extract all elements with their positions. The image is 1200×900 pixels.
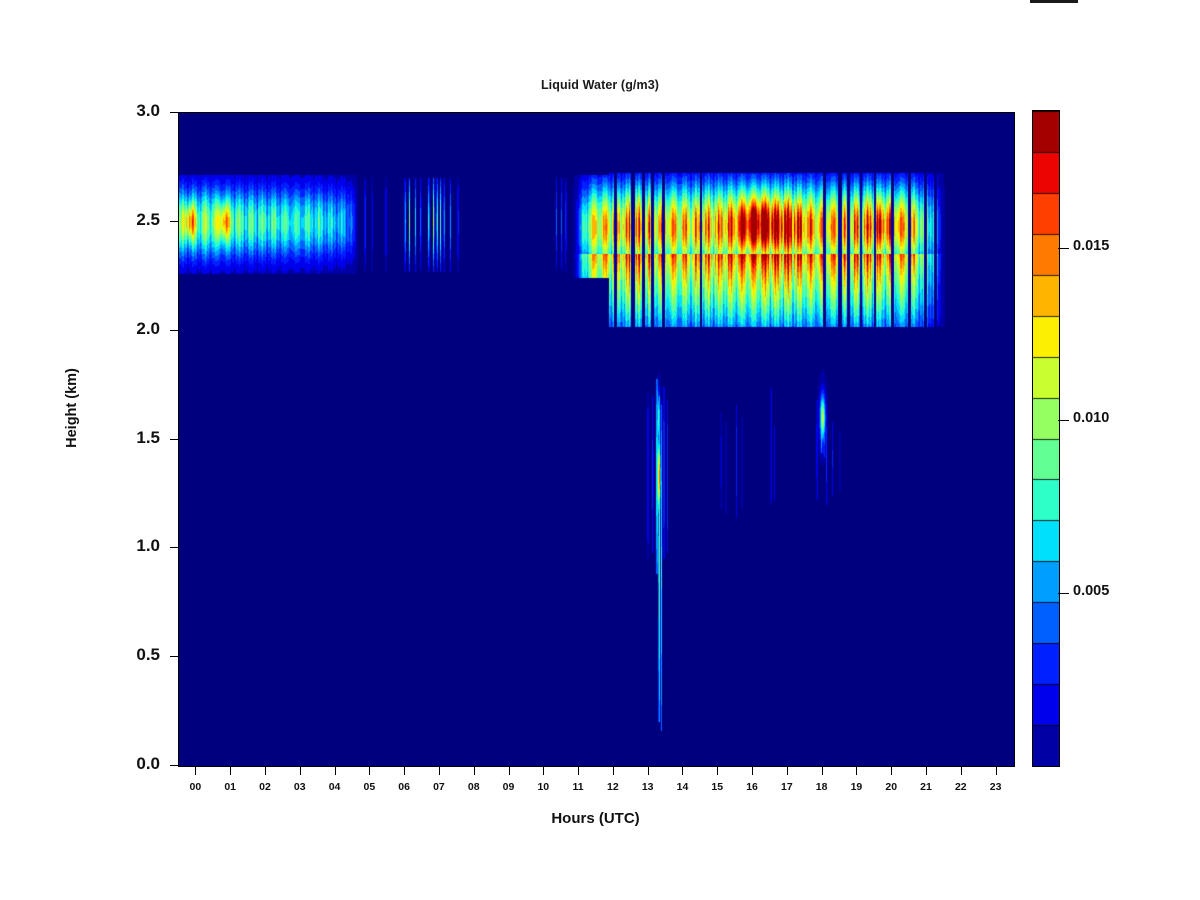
x-tick-mark <box>996 766 997 775</box>
top-right-artifact-bar <box>1030 0 1078 3</box>
x-tick-label: 23 <box>983 781 1009 793</box>
x-tick-label: 05 <box>356 781 382 793</box>
x-tick-label: 17 <box>774 781 800 793</box>
x-tick-label: 02 <box>252 781 278 793</box>
x-tick-label: 16 <box>739 781 765 793</box>
x-tick-label: 09 <box>496 781 522 793</box>
x-tick-mark <box>509 766 510 775</box>
y-tick-label: 1.5 <box>100 428 160 448</box>
x-tick-mark <box>787 766 788 775</box>
x-tick-label: 18 <box>809 781 835 793</box>
y-tick-mark <box>170 330 178 331</box>
y-tick-mark <box>170 439 178 440</box>
x-tick-mark <box>682 766 683 775</box>
x-tick-mark <box>822 766 823 775</box>
x-tick-label: 00 <box>182 781 208 793</box>
y-tick-label: 2.0 <box>100 319 160 339</box>
x-tick-label: 07 <box>426 781 452 793</box>
x-tick-label: 15 <box>704 781 730 793</box>
x-tick-label: 21 <box>913 781 939 793</box>
y-tick-label: 0.5 <box>100 645 160 665</box>
x-tick-mark <box>439 766 440 775</box>
y-tick-mark <box>170 221 178 222</box>
x-axis-title: Hours (UTC) <box>178 810 1013 827</box>
x-tick-label: 11 <box>565 781 591 793</box>
x-tick-mark <box>961 766 962 775</box>
x-tick-mark <box>300 766 301 775</box>
x-tick-label: 10 <box>530 781 556 793</box>
x-tick-mark <box>474 766 475 775</box>
x-tick-label: 20 <box>878 781 904 793</box>
x-tick-label: 19 <box>843 781 869 793</box>
y-tick-mark <box>170 765 178 766</box>
x-tick-mark <box>369 766 370 775</box>
x-tick-label: 14 <box>669 781 695 793</box>
y-tick-label: 3.0 <box>100 101 160 121</box>
x-tick-label: 12 <box>600 781 626 793</box>
x-tick-mark <box>891 766 892 775</box>
x-tick-label: 06 <box>391 781 417 793</box>
x-tick-mark <box>335 766 336 775</box>
figure-root: Liquid Water (g/m3) 0.00.51.01.52.02.53.… <box>0 0 1200 900</box>
colorbar-tick-mark <box>1058 420 1069 421</box>
x-tick-mark <box>195 766 196 775</box>
x-tick-label: 08 <box>461 781 487 793</box>
x-tick-mark <box>926 766 927 775</box>
x-tick-label: 13 <box>635 781 661 793</box>
x-tick-label: 03 <box>287 781 313 793</box>
x-tick-label: 01 <box>217 781 243 793</box>
x-tick-mark <box>265 766 266 775</box>
colorbar-tick-mark <box>1058 593 1069 594</box>
y-tick-mark <box>170 547 178 548</box>
x-tick-mark <box>230 766 231 775</box>
y-tick-mark <box>170 656 178 657</box>
x-tick-label: 22 <box>948 781 974 793</box>
y-tick-mark <box>170 112 178 113</box>
x-tick-mark <box>856 766 857 775</box>
x-tick-mark <box>404 766 405 775</box>
y-tick-label: 2.5 <box>100 210 160 230</box>
colorbar-tick-mark <box>1058 248 1069 249</box>
x-tick-mark <box>578 766 579 775</box>
y-tick-label: 1.0 <box>100 536 160 556</box>
colorbar-tick-label: 0.010 <box>1073 410 1109 426</box>
x-tick-label: 04 <box>322 781 348 793</box>
x-tick-mark <box>717 766 718 775</box>
colorbar <box>1032 110 1060 767</box>
x-tick-mark <box>613 766 614 775</box>
page-title: Liquid Water (g/m3) <box>0 78 1200 92</box>
colorbar-tick-label: 0.005 <box>1073 583 1109 599</box>
y-axis-title: Height (km) <box>64 308 80 508</box>
liquid-water-heatmap <box>178 112 1015 767</box>
x-tick-mark <box>543 766 544 775</box>
x-tick-mark <box>648 766 649 775</box>
x-tick-mark <box>752 766 753 775</box>
y-tick-label: 0.0 <box>100 754 160 774</box>
colorbar-tick-label: 0.015 <box>1073 238 1109 254</box>
